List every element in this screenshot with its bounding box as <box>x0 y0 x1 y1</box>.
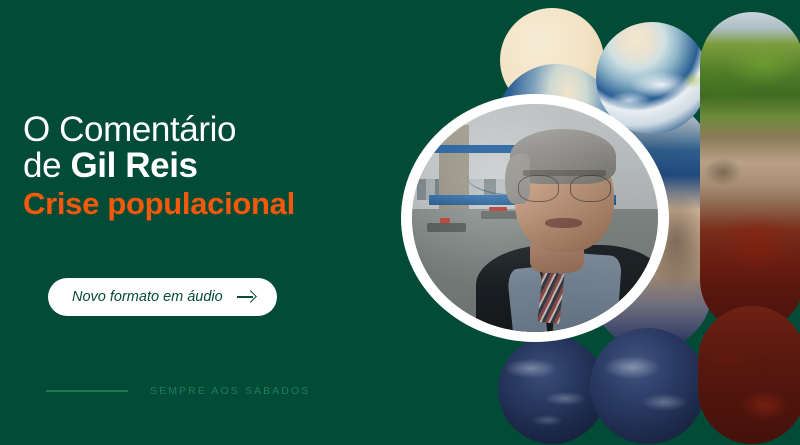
headline-line-2: de Gil Reis <box>23 148 443 184</box>
headline-line-2-prefix: de <box>23 146 70 185</box>
banner: O Comentário de Gil Reis Crise populacio… <box>0 0 800 445</box>
headline-line-3: Crise populacional <box>23 184 443 224</box>
schedule-label: SEMPRE AOS SÁBADOS <box>150 385 310 397</box>
earth-blue-circle-mid-image <box>590 328 706 444</box>
headline-line-2-name: Gil Reis <box>70 146 197 185</box>
divider <box>46 390 128 392</box>
moss-rock-red-panel-image <box>700 12 800 332</box>
new-audio-format-button[interactable]: Novo formato em áudio <box>48 278 277 316</box>
schedule-footer: SEMPRE AOS SÁBADOS <box>46 385 310 397</box>
headline-line-1: O Comentário <box>23 112 443 148</box>
content-panel: O Comentário de Gil Reis Crise populacio… <box>0 0 470 445</box>
page-title: O Comentário de Gil Reis Crise populacio… <box>23 112 443 224</box>
cta-label: Novo formato em áudio <box>72 289 223 305</box>
arrow-right-icon <box>237 291 255 303</box>
red-earth-blob-image <box>698 306 800 444</box>
